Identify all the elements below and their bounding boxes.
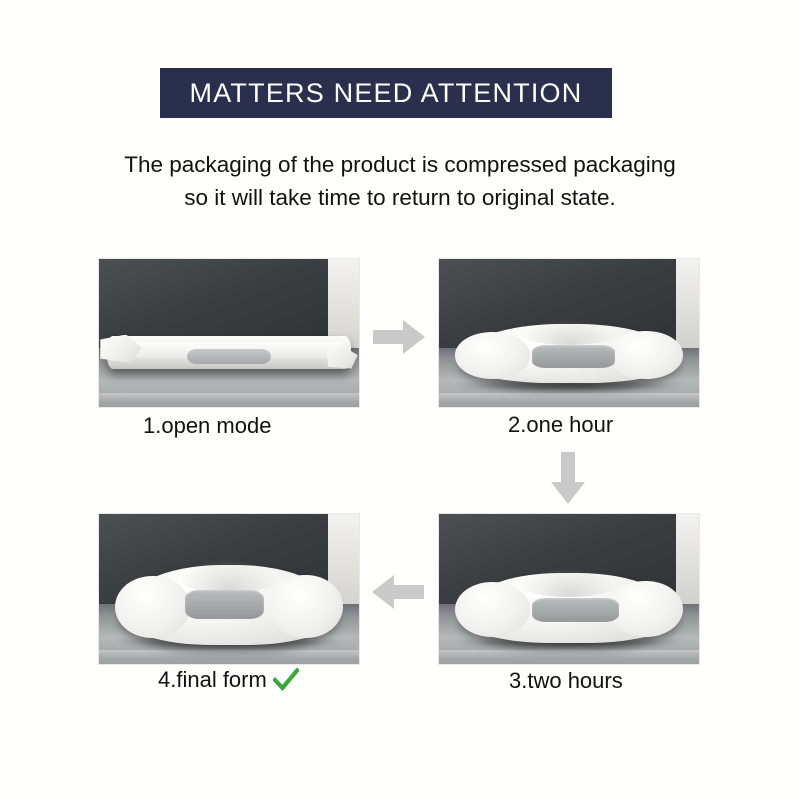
subtitle-line-2: so it will take time to return to origin… [60, 181, 740, 214]
floor-sheen [99, 650, 359, 660]
pillow-lobe-left [455, 332, 529, 378]
step-caption-1: 1.open mode [143, 413, 271, 439]
pillow-gray-insert [187, 349, 270, 364]
pillow-gray-insert [532, 598, 619, 622]
subtitle-line-1: The packaging of the product is compress… [60, 148, 740, 181]
step-image-2 [438, 258, 700, 408]
pillow-lobe-left [115, 576, 189, 638]
infographic-page: MATTERS NEED ATTENTION The packaging of … [0, 0, 800, 800]
product-photo-compressed [99, 259, 359, 407]
photo-side-wall [676, 259, 699, 357]
step-caption-4-text: 4.final form [158, 667, 267, 693]
step-caption-2: 2.one hour [508, 412, 613, 438]
pillow-lobe-left [455, 582, 529, 637]
pillow-gray-insert [185, 590, 264, 619]
step-caption-4: 4.final form [158, 667, 299, 693]
floor-sheen [439, 650, 699, 660]
step-caption-2-text: 2.one hour [508, 412, 613, 438]
page-title-banner: MATTERS NEED ATTENTION [160, 68, 612, 118]
floor-sheen [99, 393, 359, 402]
check-mark-icon [273, 668, 299, 692]
step-image-3 [438, 513, 700, 665]
arrow-down-icon [551, 452, 585, 509]
pillow-gray-insert [532, 345, 615, 367]
step-image-4 [98, 513, 360, 665]
product-photo-one-hour [439, 259, 699, 407]
floor-sheen [439, 393, 699, 402]
product-photo-two-hours [439, 514, 699, 664]
arrow-right-icon [373, 320, 425, 359]
pillow-lobe-right [608, 331, 682, 378]
product-photo-final-form [99, 514, 359, 664]
pillow-lobe-right [268, 575, 342, 639]
pillow-body [460, 573, 678, 644]
pillow-body [460, 324, 678, 383]
page-title: MATTERS NEED ATTENTION [190, 78, 583, 109]
step-caption-1-text: 1.open mode [143, 413, 271, 439]
arrow-left-icon [372, 575, 424, 614]
step-caption-3-text: 3.two hours [509, 668, 623, 694]
pillow-body [120, 565, 338, 645]
step-image-1 [98, 258, 360, 408]
pillow-lobe-right [608, 581, 682, 637]
step-caption-3: 3.two hours [509, 668, 623, 694]
subtitle-text: The packaging of the product is compress… [60, 148, 740, 214]
